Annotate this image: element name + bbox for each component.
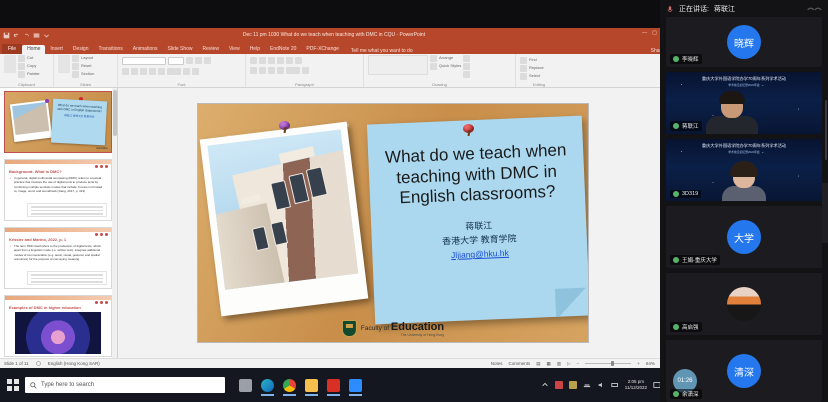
arrange-label: Arrange (439, 55, 453, 62)
align-right-icon[interactable] (268, 67, 275, 74)
slide-canvas[interactable]: What do we teach when teaching with DMC … (118, 88, 668, 358)
clear-formatting-icon[interactable] (204, 57, 211, 64)
participant-tile-6[interactable]: 清深 01:26 余潇深 (666, 340, 822, 402)
mic-status-icon (673, 191, 679, 197)
title-sticky-note[interactable]: What do we teach when teaching with DMC … (367, 116, 588, 325)
group-label-editing: Editing (520, 82, 558, 87)
tab-pdf-xchange[interactable]: PDF-XChange (301, 45, 344, 54)
select-icon[interactable] (520, 73, 527, 80)
columns-icon[interactable] (286, 67, 300, 74)
participant-tile-2[interactable]: 重庆大学外国语学院办学70周年系列学术活动 学术前沿论坛暨2022年会 蒋联江 (666, 72, 822, 134)
participant-name: 高启强 (682, 323, 699, 331)
tab-endnote[interactable]: EndNote 20 (265, 45, 301, 54)
view-slideshow-icon[interactable]: ▷ (567, 361, 570, 367)
text-shadow-icon[interactable] (149, 68, 156, 75)
hku-main-building-photo (208, 129, 359, 289)
comments-button[interactable]: Comments (509, 361, 531, 366)
replace-label: Replace (529, 65, 544, 72)
find-icon[interactable] (520, 57, 527, 64)
participant-name-badge: 蒋联江 (670, 121, 702, 131)
taskbar-items[interactable] (239, 379, 362, 392)
thumbnail-image (15, 312, 101, 354)
tab-view[interactable]: View (224, 45, 245, 54)
thumbnail-citation-box (27, 271, 107, 285)
notes-button[interactable]: Notes (491, 361, 503, 366)
justify-icon[interactable] (277, 67, 284, 74)
hku-crest-icon (342, 320, 357, 337)
mic-status-icon (673, 56, 679, 62)
thumbnail-content: Kessler and Marino, 2022, p. 1 The term … (5, 228, 111, 288)
participant-tile-5[interactable]: 高启强 (666, 273, 822, 335)
participant-name: 蒋联江 (682, 122, 699, 130)
current-slide[interactable]: What do we teach when teaching with DMC … (198, 104, 588, 342)
participant-name-badge: 余潇深 (670, 389, 702, 399)
banner-text: 重庆大学外国语学院办学70周年系列学术活动 (702, 76, 786, 81)
more-options-icon[interactable] (806, 5, 822, 13)
line-spacing-icon[interactable] (286, 57, 293, 64)
thumbnail-body: In general, digital multimodal composing… (5, 176, 111, 193)
powerpoint-window: Dec 11 pm 1030 What do we teach when tea… (0, 28, 668, 368)
ribbon-group-font[interactable]: Font (118, 54, 246, 87)
decrease-font-size-icon[interactable] (195, 57, 202, 64)
participant-name: 余潇深 (682, 390, 699, 398)
speaking-prefix: 正在讲话: (679, 4, 709, 14)
logo-sub-text: The University of Hong Kong (361, 333, 444, 337)
participant-name-badge: 李晓辉 (670, 54, 702, 64)
tab-transitions[interactable]: Transitions (94, 45, 128, 54)
tab-help[interactable]: Help (245, 45, 265, 54)
ribbon-group-clipboard[interactable]: Cut Copy Painter Clipboard (0, 54, 54, 87)
shape-outline-icon[interactable] (463, 63, 470, 70)
minimize-icon[interactable]: — (642, 30, 647, 36)
avatar (727, 287, 761, 321)
increase-font-size-icon[interactable] (186, 57, 193, 64)
mic-status-icon (673, 391, 679, 397)
logo-big-text: Education (391, 321, 444, 333)
input-method-icon[interactable] (555, 381, 563, 389)
mic-status-icon (673, 257, 679, 263)
speaking-indicator: 正在讲话: 蒋联江 (660, 0, 828, 17)
thumbnail-citation-box (27, 203, 107, 217)
show-hidden-icons[interactable] (541, 381, 549, 389)
ribbon[interactable]: Cut Copy Painter Clipboard Layout Reset … (0, 54, 668, 88)
microphone-icon (666, 5, 674, 13)
screen: Dec 11 pm 1030 What do we teach when tea… (0, 0, 828, 402)
change-case-icon[interactable] (183, 68, 190, 75)
find-label: Find (529, 57, 537, 64)
window-title: Dec 11 pm 1030 What do we teach when tea… (0, 32, 668, 38)
ribbon-group-editing[interactable]: Find Replace Select Editing (516, 54, 562, 87)
thumbnail-decor-icons (95, 165, 108, 168)
participant-tile-3[interactable]: 重庆大学外国语学院办学70周年系列学术活动 学术前沿论坛暨2022年会 3D31… (666, 139, 822, 201)
avatar: 晓辉 (727, 25, 761, 59)
slide-counter[interactable]: Slide 1 of 11 (4, 361, 29, 366)
search-input[interactable]: Type here to search (25, 377, 225, 393)
slide-thumbnail-2[interactable]: Background: What is DMC? In general, dig… (4, 159, 112, 221)
battery-icon[interactable] (611, 381, 619, 389)
video-panel-scrollbar[interactable] (825, 100, 827, 160)
thumbnail-subtext: 蒋联江 香港大学 教育学院 (55, 114, 103, 120)
slide-heading: What do we teach when teaching with DMC … (367, 116, 585, 211)
chrome-browser-icon[interactable] (283, 379, 296, 392)
tab-animations[interactable]: Animations (128, 45, 163, 54)
align-left-icon[interactable] (250, 67, 257, 74)
task-view-icon[interactable] (239, 379, 252, 392)
mic-status-icon (673, 324, 679, 330)
group-label-font: Font (122, 82, 241, 87)
taskbar-clock[interactable]: 2:05 pm 11/12/2022 (625, 379, 647, 391)
view-sorter-icon[interactable]: ▦ (547, 361, 551, 367)
search-placeholder: Type here to search (41, 382, 94, 388)
bold-icon[interactable] (122, 68, 129, 75)
powerpoint-body: What do we teach when teaching with DMC … (0, 88, 668, 358)
photo-polaroid[interactable] (200, 122, 369, 317)
photo-image (208, 129, 359, 289)
copy-icon[interactable] (18, 63, 25, 70)
zoom-in-button[interactable]: + (637, 361, 640, 366)
slide-thumbnail-3[interactable]: Kessler and Marino, 2022, p. 1 The term … (4, 227, 112, 289)
pdf-reader-icon[interactable] (327, 379, 340, 392)
numbering-icon[interactable] (259, 57, 266, 64)
font-family-dropdown[interactable] (122, 57, 166, 65)
participant-name: 李晓辉 (682, 55, 699, 63)
shape-effects-icon[interactable] (463, 71, 470, 78)
arrange-icon[interactable] (430, 55, 437, 62)
participant-figure (722, 164, 766, 201)
convert-to-smartart-icon[interactable] (302, 67, 309, 74)
system-tray[interactable]: 2:05 pm 11/12/2022 (541, 379, 664, 391)
ribbon-group-slides[interactable]: Layout Reset Section Slides (54, 54, 118, 87)
virtual-background-banner: 重庆大学外国语学院办学70周年系列学术活动 学术前沿论坛暨2022年会 (666, 76, 822, 87)
align-center-icon[interactable] (259, 67, 266, 74)
thumbnail-body: The term DMC itself refers to the produc… (5, 244, 111, 261)
slide-thumbnail-1[interactable]: What do we teach when teaching with DMC … (4, 91, 112, 153)
file-explorer-icon[interactable] (305, 379, 318, 392)
font-color-icon[interactable] (192, 68, 199, 75)
search-icon (30, 382, 37, 389)
ribbon-group-paragraph[interactable]: Paragraph (246, 54, 364, 87)
thumbnail-scrollbar[interactable] (112, 88, 117, 358)
zoom-app-icon[interactable] (349, 379, 362, 392)
language-indicator[interactable]: English (Hong Kong SAR) (48, 361, 100, 366)
font-size-dropdown[interactable] (168, 57, 184, 65)
tab-insert[interactable]: Insert (45, 45, 68, 54)
participant-name-badge: 3D319 (670, 190, 701, 198)
thumbnail-decor-icons (95, 233, 108, 236)
view-normal-icon[interactable]: ▤ (536, 361, 540, 367)
section-label: Section (81, 71, 94, 78)
logo-small-text: Faculty of (361, 325, 389, 332)
cut-icon[interactable] (18, 55, 25, 62)
faculty-logo: Faculty of Education The University of H… (342, 320, 444, 337)
participant-name-badge: 王娟-重庆大学 (670, 255, 720, 265)
red-pin-icon (463, 124, 475, 136)
strikethrough-icon[interactable] (158, 68, 165, 75)
zoom-video-panel[interactable]: 正在讲话: 蒋联江 晓辉 李晓辉 重庆大学外国语学院办学70周年系列学术活动 学… (660, 0, 828, 402)
paste-icon[interactable] (4, 55, 16, 73)
zoom-out-button[interactable]: − (577, 361, 580, 366)
ribbon-group-drawing[interactable]: Arrange Quick Styles Drawing (364, 54, 516, 87)
thumbnail-note: What do we teach when teaching with DMC … (51, 99, 107, 146)
group-label-drawing: Drawing (368, 82, 511, 87)
banner-subtext: 学术前沿论坛暨2022年会 (666, 83, 822, 87)
speaking-name: 蒋联江 (714, 4, 735, 14)
thumbnail-pin-purple (45, 99, 49, 103)
zoom-slider[interactable] (585, 363, 631, 365)
panel-edge (822, 183, 828, 243)
shapes-gallery[interactable] (368, 55, 428, 75)
banner-subtext: 学术前沿论坛暨2022年会 (666, 150, 822, 154)
thumbnail-content: Examples of DMC in higher education (5, 296, 111, 356)
thumbnail-content: Background: What is DMC? In general, dig… (5, 160, 111, 220)
mic-status-icon (673, 123, 679, 129)
accessibility-icon[interactable] (36, 361, 41, 366)
thumbnail-bullet: In general, digital multimodal composing… (10, 176, 106, 193)
thumbnail-logo: Education (96, 147, 108, 150)
quick-styles-label: Quick Styles (439, 63, 461, 70)
participant-tile-1[interactable]: 晓辉 李晓辉 (666, 17, 822, 67)
windows-taskbar[interactable]: Type here to search 2:05 pm 11/12/2022 (0, 368, 668, 402)
slide-footer: Faculty of Education The University of H… (198, 316, 588, 342)
slide-thumbnail-4[interactable]: Examples of DMC in higher education (4, 295, 112, 357)
tab-design[interactable]: Design (68, 45, 94, 54)
increase-indent-icon[interactable] (277, 57, 284, 64)
thumbnail-decor-icons (95, 301, 108, 304)
network-icon[interactable] (583, 381, 591, 389)
replace-icon[interactable] (520, 65, 527, 72)
thumbnail-bullet: The term DMC itself refers to the produc… (10, 244, 106, 261)
select-label: Select (529, 73, 540, 80)
tab-home[interactable]: Home (22, 45, 45, 54)
ribbon-tabs[interactable]: File Home Insert Design Transitions Anim… (0, 42, 668, 54)
participant-name: 王娟-重庆大学 (682, 256, 717, 264)
start-button[interactable] (7, 379, 19, 391)
section-icon[interactable] (72, 71, 79, 78)
restore-icon[interactable]: ▢ (652, 30, 657, 36)
bullets-icon[interactable] (250, 57, 257, 64)
reset-label: Reset (81, 63, 91, 70)
faculty-logo-text: Faculty of Education (361, 321, 444, 333)
group-label-slides: Slides (58, 82, 113, 87)
zoom-level[interactable]: 64% (646, 361, 655, 366)
powerpoint-status-bar[interactable]: Slide 1 of 11 English (Hong Kong SAR) No… (0, 358, 668, 368)
banner-text: 重庆大学外国语学院办学70周年系列学术活动 (702, 143, 786, 148)
avatar: 清深 (727, 354, 761, 388)
quick-styles-icon[interactable] (430, 63, 437, 70)
volume-icon[interactable] (597, 381, 605, 389)
new-slide-icon[interactable] (58, 55, 70, 73)
avatar: 大学 (727, 220, 761, 254)
participant-name-badge: 高启强 (670, 322, 702, 332)
group-label-paragraph: Paragraph (250, 82, 359, 87)
layout-icon[interactable] (72, 55, 79, 62)
character-spacing-icon[interactable] (167, 68, 181, 75)
tab-slide-show[interactable]: Slide Show (163, 45, 198, 54)
onedrive-icon[interactable] (569, 381, 577, 389)
participant-name: 3D319 (682, 191, 698, 197)
group-label-clipboard: Clipboard (4, 82, 49, 87)
view-reading-icon[interactable]: ▥ (557, 361, 561, 367)
thumbnail-heading: What do we teach when teaching with DMC … (57, 103, 102, 113)
underline-icon[interactable] (140, 68, 147, 75)
decrease-indent-icon[interactable] (268, 57, 275, 64)
italic-icon[interactable] (131, 68, 138, 75)
participant-figure (706, 94, 758, 134)
tab-file[interactable]: File (2, 44, 22, 54)
purple-pin-icon (279, 121, 291, 133)
reset-icon[interactable] (72, 63, 79, 70)
thumbnail-photo (10, 100, 52, 142)
clock-date: 11/12/2022 (625, 385, 647, 391)
participant-tile-4[interactable]: 大学 王娟-重庆大学 (666, 206, 822, 268)
virtual-background-banner: 重庆大学外国语学院办学70周年系列学术活动 学术前沿论坛暨2022年会 (666, 143, 822, 154)
tab-review[interactable]: Review (198, 45, 224, 54)
slide-thumbnail-pane[interactable]: What do we teach when teaching with DMC … (0, 88, 118, 358)
format-painter-icon[interactable] (18, 71, 25, 78)
text-direction-icon[interactable] (295, 57, 302, 64)
layout-label: Layout (81, 55, 93, 62)
powerpoint-titlebar: Dec 11 pm 1030 What do we teach when tea… (0, 28, 668, 42)
edge-browser-icon[interactable] (261, 379, 274, 392)
shape-fill-icon[interactable] (463, 55, 470, 62)
